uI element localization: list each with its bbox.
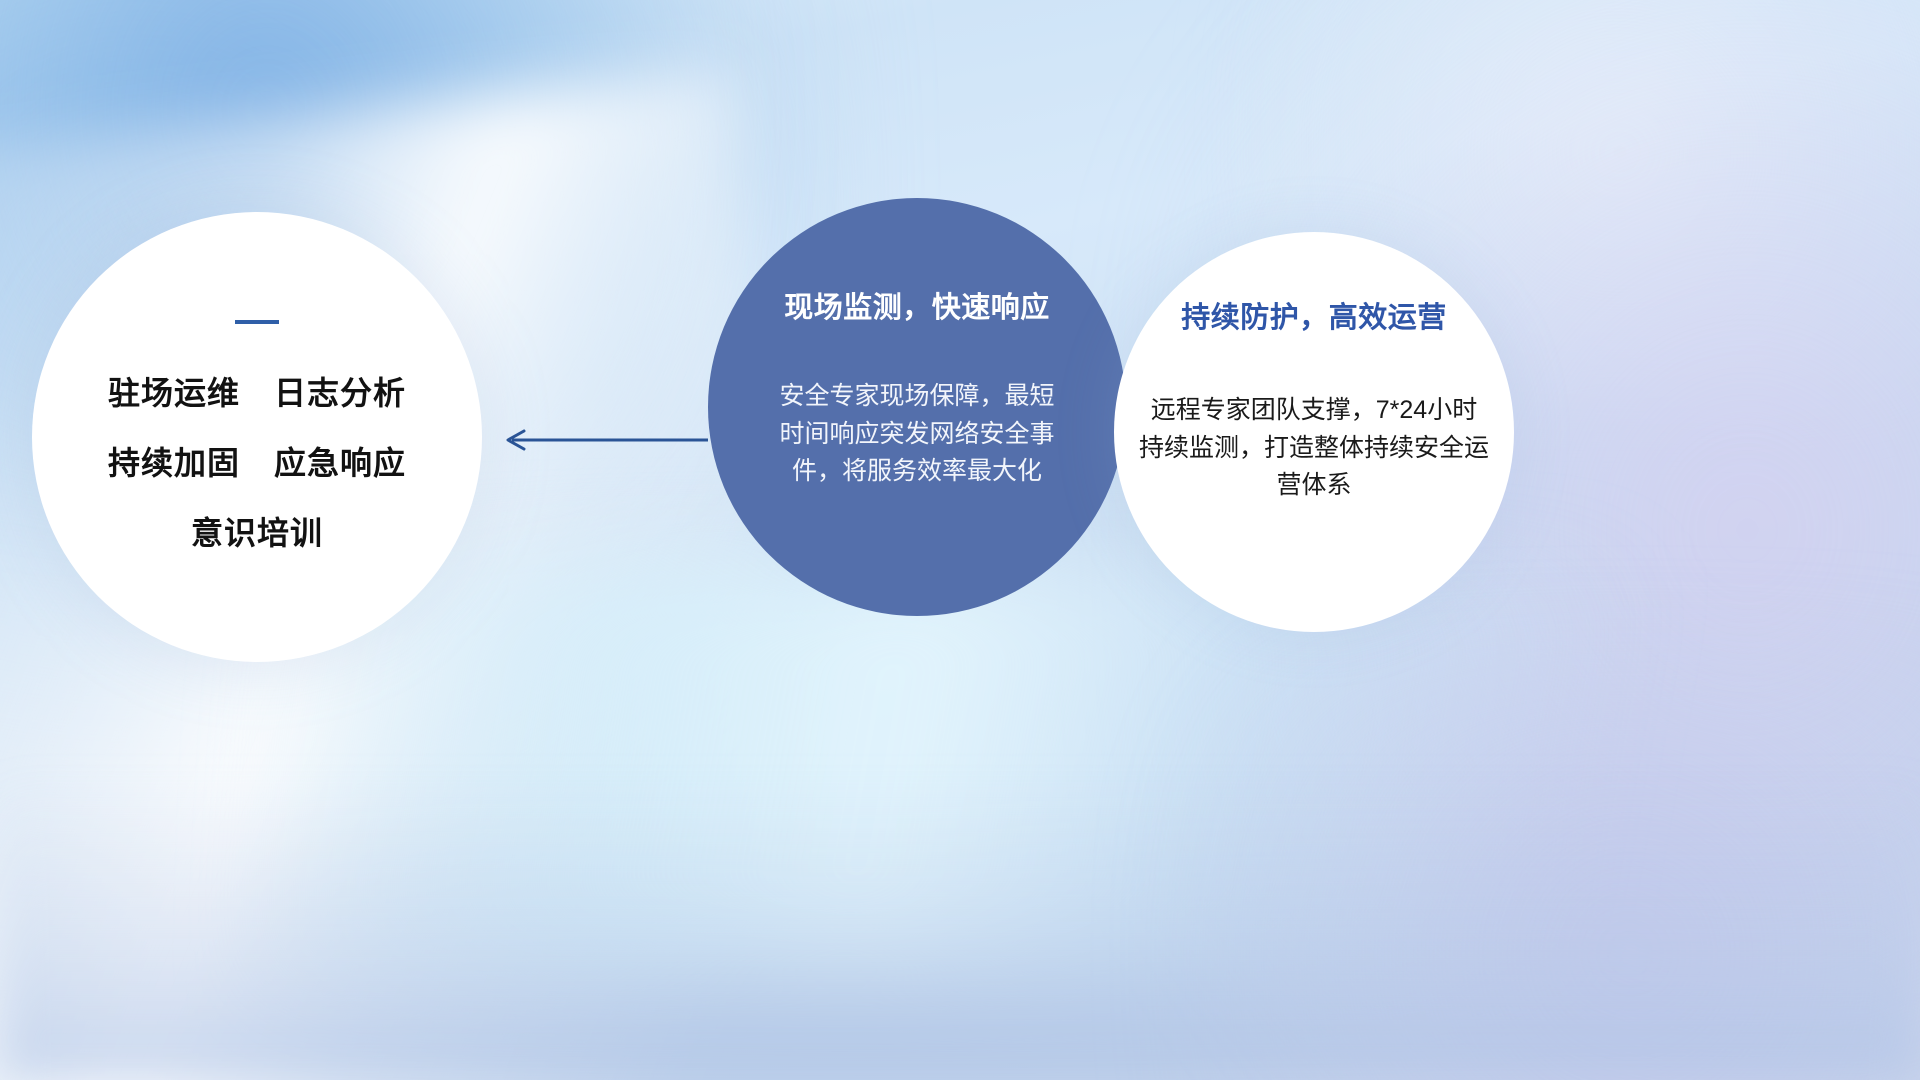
middle-onsite-circle: 现场监测，快速响应 安全专家现场保障，最短时间响应突发网络安全事件，将服务效率最… [708,198,1126,616]
middle-circle-body: 安全专家现场保障，最短时间响应突发网络安全事件，将服务效率最大化 [776,378,1058,491]
capability-keyword-row: 持续加固 应急响应 [108,438,406,484]
capability-keyword: 持续加固 [108,438,240,484]
capability-keyword: 驻场运维 [108,368,240,414]
capability-keyword-list: 驻场运维 日志分析 持续加固 应急响应 意识培训 [108,368,406,554]
capability-keyword: 意识培训 [191,508,323,554]
left-arrow-icon [498,424,708,456]
connector-arrow [498,424,708,456]
middle-circle-title: 现场监测，快速响应 [784,284,1050,326]
diagram-stage: 驻场运维 日志分析 持续加固 应急响应 意识培训 现场监测，快速响应 安全专家现… [0,0,1920,1080]
capability-keyword-row: 驻场运维 日志分析 [108,368,406,414]
left-capability-circle: 驻场运维 日志分析 持续加固 应急响应 意识培训 [32,212,482,662]
right-operations-circle: 持续防护，高效运营 远程专家团队支撑，7*24小时持续监测，打造整体持续安全运营… [1114,232,1514,632]
dash-divider-icon [235,320,279,324]
capability-keyword: 日志分析 [274,368,406,414]
right-circle-title: 持续防护，高效运营 [1181,294,1447,336]
capability-keyword: 应急响应 [274,438,406,484]
capability-keyword-row: 意识培训 [191,508,323,554]
right-circle-body: 远程专家团队支撑，7*24小时持续监测，打造整体持续安全运营体系 [1139,392,1489,505]
